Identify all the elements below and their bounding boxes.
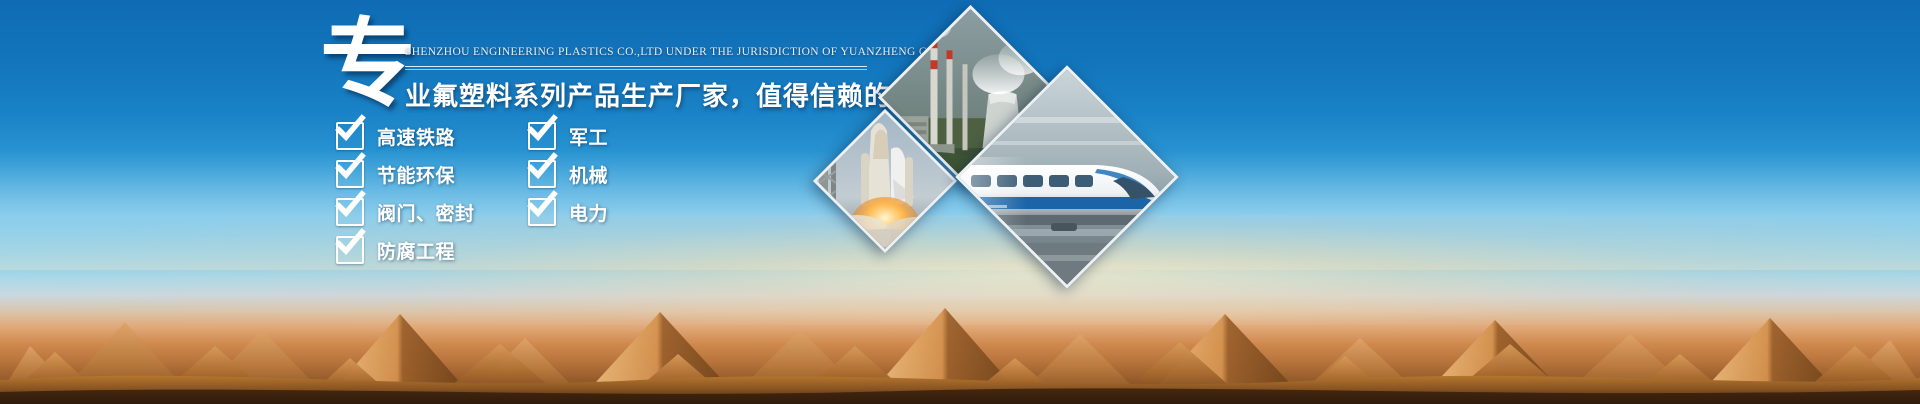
checklist-column-left: 高速铁路 节能环保 阀门、密封 防腐工程 bbox=[336, 118, 475, 270]
checkbox-checked-icon[interactable] bbox=[528, 160, 556, 188]
list-item-label: 军工 bbox=[569, 123, 608, 150]
checkbox-checked-icon[interactable] bbox=[336, 160, 364, 188]
english-tagline: SHENZHOU ENGINEERING PLASTICS CO.,LTD UN… bbox=[405, 46, 875, 58]
list-item[interactable]: 高速铁路 bbox=[336, 118, 475, 154]
checkbox-checked-icon[interactable] bbox=[528, 122, 556, 150]
list-item-label: 电力 bbox=[569, 199, 608, 226]
list-item[interactable]: 阀门、密封 bbox=[336, 194, 475, 230]
list-item[interactable]: 节能环保 bbox=[336, 156, 475, 192]
brand-mark-character: 专 bbox=[320, 16, 416, 112]
divider-rule bbox=[405, 66, 867, 71]
promo-banner: 专 SHENZHOU ENGINEERING PLASTICS CO.,LTD … bbox=[0, 0, 1920, 404]
list-item[interactable]: 机械 bbox=[528, 156, 608, 192]
list-item[interactable]: 军工 bbox=[528, 118, 608, 154]
list-item-label: 防腐工程 bbox=[377, 237, 455, 264]
checkbox-checked-icon[interactable] bbox=[336, 122, 364, 150]
list-item-label: 节能环保 bbox=[377, 161, 455, 188]
list-item-label: 机械 bbox=[569, 161, 608, 188]
checkbox-checked-icon[interactable] bbox=[336, 236, 364, 264]
list-item-label: 高速铁路 bbox=[377, 123, 455, 150]
list-item[interactable]: 防腐工程 bbox=[336, 232, 475, 268]
headline-block: 专 SHENZHOU ENGINEERING PLASTICS CO.,LTD … bbox=[320, 18, 890, 113]
feature-checklist: 高速铁路 节能环保 阀门、密封 防腐工程 bbox=[336, 118, 666, 263]
checklist-column-right: 军工 机械 电力 bbox=[528, 118, 608, 232]
list-item-label: 阀门、密封 bbox=[377, 199, 475, 226]
checkbox-checked-icon[interactable] bbox=[528, 198, 556, 226]
list-item[interactable]: 电力 bbox=[528, 194, 608, 230]
photo-diamond-cluster bbox=[820, 10, 1240, 290]
checkbox-checked-icon[interactable] bbox=[336, 198, 364, 226]
